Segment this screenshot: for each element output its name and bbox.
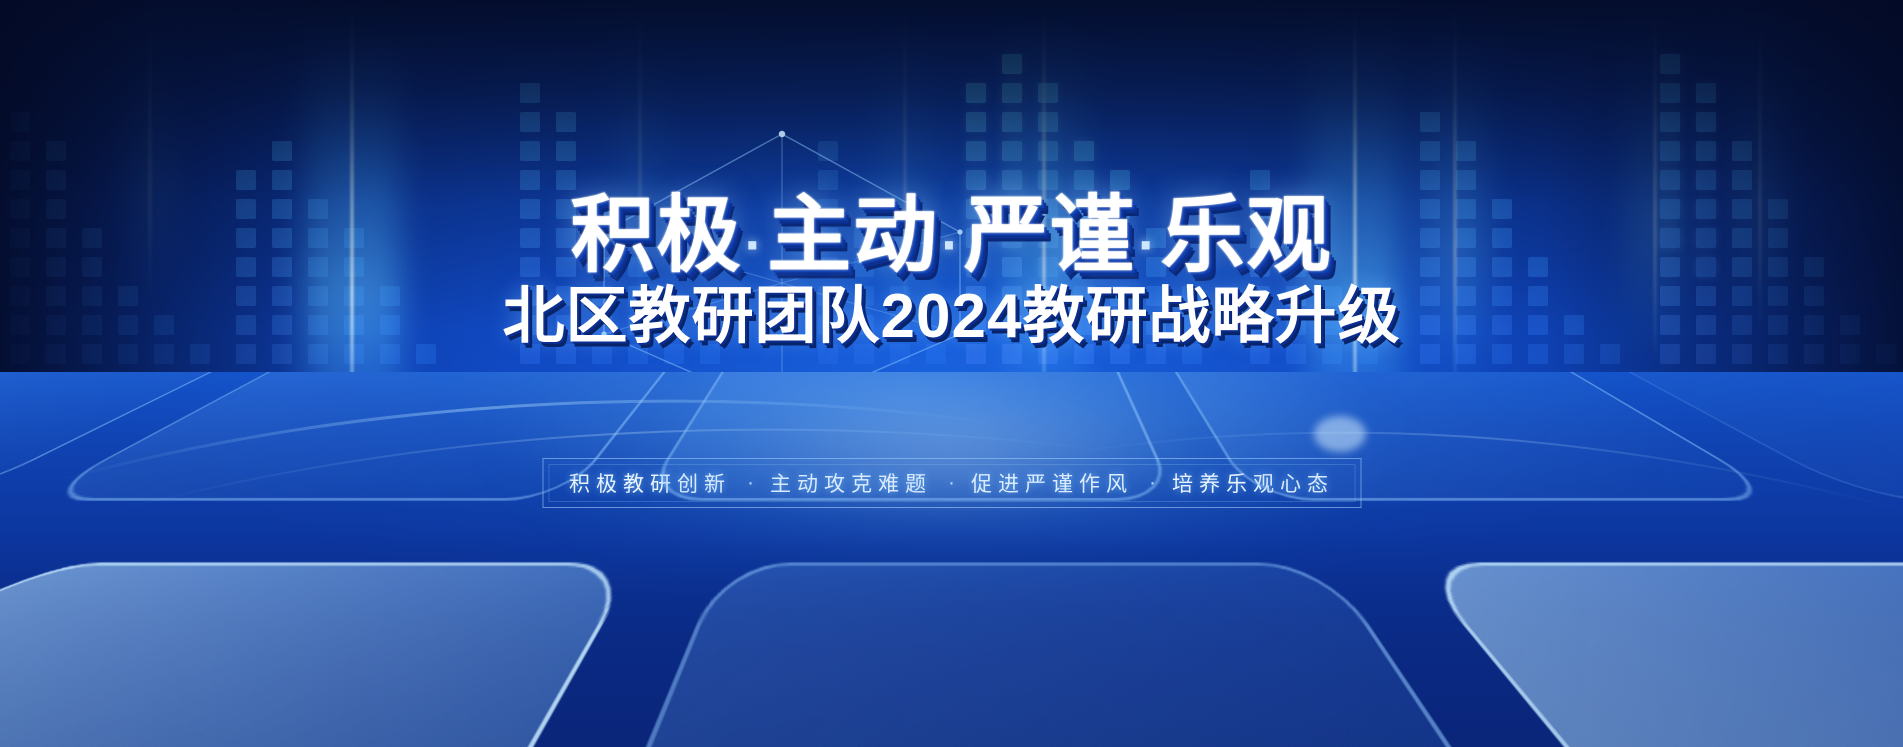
tagline-item: 培养乐观心态 bbox=[1172, 468, 1334, 498]
banner-subtitle: 北区教研团队2024教研战略升级 bbox=[0, 265, 1903, 355]
tagline-separator: · bbox=[731, 471, 770, 495]
tagline-item: 主动攻克难题 bbox=[770, 468, 932, 498]
banner-content: 积极·主动·严谨·乐观 北区教研团队2024教研战略升级 积极教研创新·主动攻克… bbox=[0, 0, 1903, 747]
tagline-item: 促进严谨作风 bbox=[971, 468, 1133, 498]
hero-banner: 积极·主动·严谨·乐观 北区教研团队2024教研战略升级 积极教研创新·主动攻克… bbox=[0, 0, 1903, 747]
tagline-bar: 积极教研创新·主动攻克难题·促进严谨作风·培养乐观心态 bbox=[542, 458, 1361, 508]
tagline-separator: · bbox=[932, 471, 971, 495]
tagline-item: 积极教研创新 bbox=[569, 468, 731, 498]
tagline-separator: · bbox=[1133, 471, 1172, 495]
